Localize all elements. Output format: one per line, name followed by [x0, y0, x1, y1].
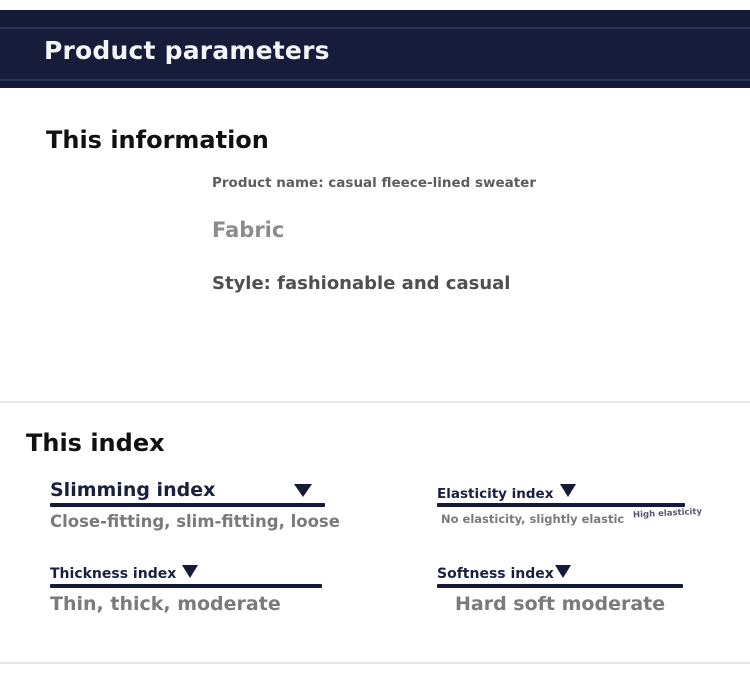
- index-item-elasticity: Elasticity index No elasticity, slightly…: [437, 483, 553, 505]
- index-label-row: Thickness index: [50, 563, 176, 585]
- index-bar-softness: [437, 584, 683, 588]
- product-information-section: This information Product name: casual fl…: [0, 88, 750, 402]
- index-bar-slimming: [50, 503, 325, 507]
- page-title: Product parameters: [44, 36, 330, 65]
- index-endcap-elasticity: High elasticity: [633, 509, 689, 521]
- index-section-heading: This index: [26, 429, 165, 457]
- index-item-thickness: Thickness index Thin, thick, moderate: [50, 563, 176, 585]
- index-bar-elasticity: [437, 503, 685, 507]
- index-bar-thickness: [50, 584, 322, 588]
- index-label-row: Elasticity index: [437, 483, 553, 505]
- index-label-elasticity: Elasticity index: [437, 486, 553, 502]
- index-values-slimming: Close-fitting, slim-fitting, loose: [50, 512, 340, 531]
- fabric-text: Fabric: [212, 218, 284, 242]
- index-label-thickness: Thickness index: [50, 566, 176, 582]
- product-name-text: Product name: casual fleece-lined sweate…: [212, 175, 536, 191]
- index-label-row: Softness index: [437, 563, 554, 585]
- index-item-softness: Softness index Hard soft moderate: [437, 563, 554, 585]
- index-label-row: Slimming index: [50, 479, 215, 501]
- style-text: Style: fashionable and casual: [212, 273, 510, 294]
- index-label-slimming: Slimming index: [50, 479, 215, 501]
- information-section-heading: This information: [46, 126, 269, 154]
- index-values-elasticity: No elasticity, slightly elastic: [441, 512, 624, 526]
- index-item-slimming: Slimming index Close-fitting, slim-fitti…: [50, 479, 215, 501]
- section-divider-bottom: [0, 662, 750, 664]
- index-label-softness: Softness index: [437, 566, 554, 582]
- page-header-band: Product parameters: [0, 10, 750, 88]
- index-values-thickness: Thin, thick, moderate: [50, 593, 281, 615]
- product-index-section: This index Slimming index Close-fitting,…: [0, 403, 750, 662]
- index-values-softness: Hard soft moderate: [455, 593, 665, 615]
